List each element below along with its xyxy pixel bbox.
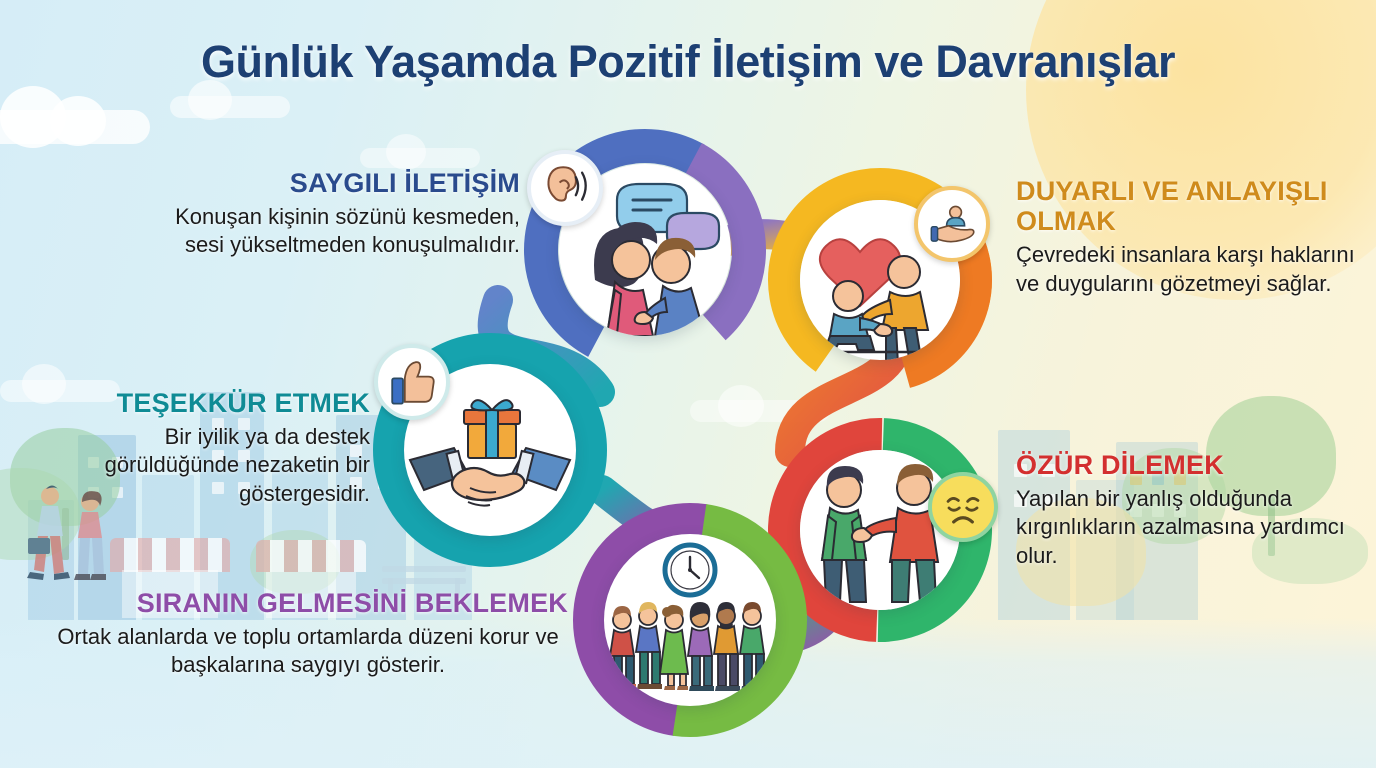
text-block-saying-thank-you: TEŞEKKÜR ETMEK Bir iyilik ya da destek g… xyxy=(40,388,370,508)
ear-listening-icon xyxy=(527,150,603,226)
heading-waiting-your-turn: SIRANIN GELMESİNİ BEKLEMEK xyxy=(48,588,568,618)
heading-respectful-communication: SAYGILI İLETİŞİM xyxy=(170,168,520,198)
heading-empathy-understanding: DUYARLI VE ANLAYIŞLI OLMAK xyxy=(1016,176,1356,236)
body-respectful-communication: Konuşan kişinin sözünü kesmeden, sesi yü… xyxy=(170,203,520,259)
node-apologizing[interactable] xyxy=(784,434,976,626)
text-block-apologizing: ÖZÜR DİLEMEK Yapılan bir yanlış olduğund… xyxy=(1016,450,1352,570)
node-empathy-understanding[interactable] xyxy=(784,184,976,376)
page-title: Günlük Yaşamda Pozitif İletişim ve Davra… xyxy=(0,36,1376,88)
body-apologizing: Yapılan bir yanlış olduğunda kırgınlıkla… xyxy=(1016,485,1352,569)
text-block-waiting-your-turn: SIRANIN GELMESİNİ BEKLEMEK Ortak alanlar… xyxy=(48,588,568,680)
heading-apologizing: ÖZÜR DİLEMEK xyxy=(1016,450,1352,480)
infographic-canvas: Günlük Yaşamda Pozitif İletişim ve Davra… xyxy=(0,0,1376,768)
heading-saying-thank-you: TEŞEKKÜR ETMEK xyxy=(40,388,370,418)
text-block-respectful-communication: SAYGILI İLETİŞİM Konuşan kişinin sözünü … xyxy=(170,168,520,260)
thumbs-up-icon xyxy=(374,344,450,420)
node-waiting-your-turn[interactable] xyxy=(586,516,794,724)
illustration-people-queue-clock xyxy=(604,534,776,706)
node-respectful-communication[interactable] xyxy=(541,146,749,354)
body-saying-thank-you: Bir iyilik ya da destek görüldüğünde nez… xyxy=(40,423,370,507)
body-empathy-understanding: Çevredeki insanlara karşı haklarını ve d… xyxy=(1016,241,1356,297)
node-saying-thank-you[interactable] xyxy=(386,346,594,554)
body-waiting-your-turn: Ortak alanlarda ve toplu ortamlarda düze… xyxy=(48,623,568,679)
hand-holding-person-icon xyxy=(914,186,990,262)
sad-face-icon xyxy=(928,472,998,542)
text-block-empathy-understanding: DUYARLI VE ANLAYIŞLI OLMAK Çevredeki ins… xyxy=(1016,176,1356,298)
